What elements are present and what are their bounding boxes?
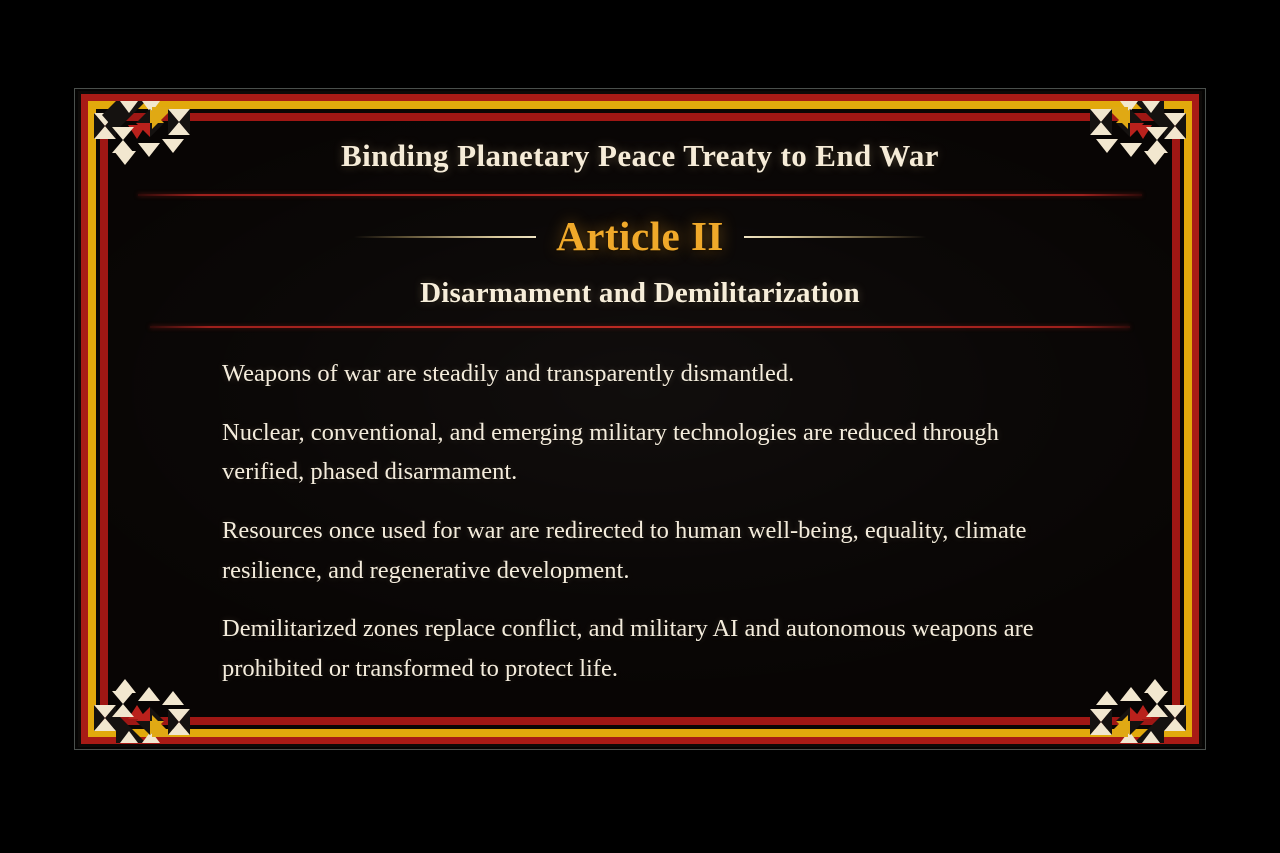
subtitle-divider-rule — [150, 326, 1130, 328]
article-rule-left — [354, 236, 536, 238]
article-subtitle: Disarmament and Demilitarization — [118, 277, 1162, 310]
article-rule-right — [744, 236, 926, 238]
clause-item: Resources once used for war are redirect… — [222, 511, 1076, 590]
corner-ornament-bottom-left — [94, 671, 206, 745]
corner-ornament-bottom-right — [1074, 671, 1186, 745]
screen-background: Binding Planetary Peace Treaty to End Wa… — [0, 0, 1280, 853]
article-heading-row: Article II — [118, 216, 1162, 257]
clause-item: Weapons of war are steadily and transpar… — [222, 354, 1076, 394]
treaty-content: Binding Planetary Peace Treaty to End Wa… — [118, 124, 1162, 714]
clause-list: Weapons of war are steadily and transpar… — [118, 354, 1162, 689]
title-divider-rule — [138, 194, 1142, 196]
corner-ornament-top-left — [94, 99, 206, 173]
clause-item: Nuclear, conventional, and emerging mili… — [222, 413, 1076, 492]
article-label: Article II — [556, 216, 724, 257]
clause-item: Demilitarized zones replace conflict, an… — [222, 609, 1076, 688]
corner-ornament-top-right — [1074, 99, 1186, 173]
document-title: Binding Planetary Peace Treaty to End Wa… — [118, 138, 1162, 174]
